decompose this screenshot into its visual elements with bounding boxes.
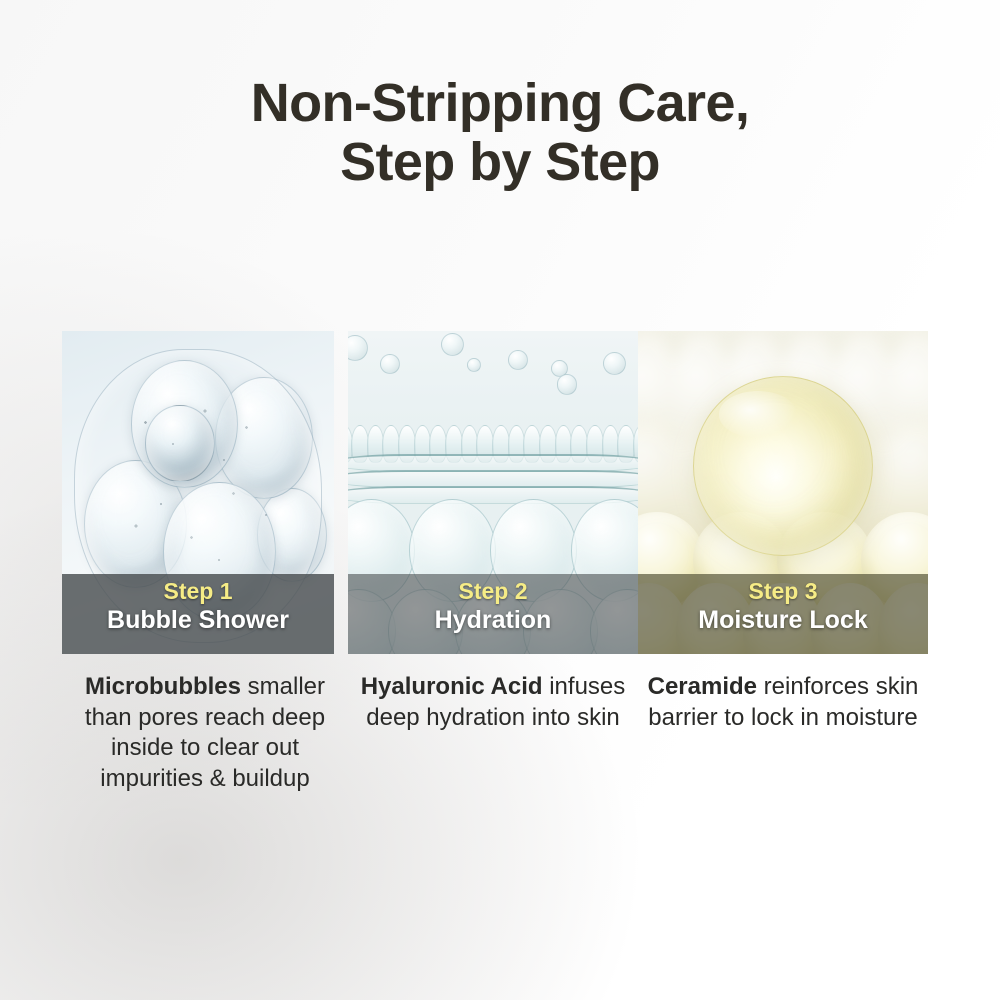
step-3-number: Step 3	[638, 580, 928, 604]
step-card-3[interactable]: Step 3 Moisture Lock	[638, 331, 928, 654]
panel-gap	[334, 331, 348, 654]
step-1-caption-keyword: Microbubbles	[85, 673, 241, 700]
step-2-number: Step 2	[348, 580, 638, 604]
bubble-icon	[441, 333, 464, 356]
bubble-icon	[380, 354, 400, 374]
step-3-caption-keyword: Ceramide	[648, 673, 757, 700]
step-3-name: Moisture Lock	[638, 607, 928, 633]
step-card-1[interactable]: Step 1 Bubble Shower	[62, 331, 334, 654]
bubble-icon	[557, 374, 577, 394]
page-title: Non-Stripping Care, Step by Step	[0, 74, 1000, 193]
ceramide-oil-sphere-icon	[693, 376, 873, 556]
page-title-line-2: Step by Step	[0, 133, 1000, 192]
product-infographic-page: { "headline": { "line1": "Non-Stripping …	[0, 0, 1000, 1000]
step-2-caption-keyword: Hyaluronic Acid	[361, 673, 543, 700]
bubble-icon	[467, 358, 482, 373]
bubble-icon	[348, 335, 368, 361]
step-1-label-bar: Step 1 Bubble Shower	[62, 574, 334, 654]
step-3-caption: Ceramide reinforces skin barrier to lock…	[638, 672, 928, 795]
step-3-label-bar: Step 3 Moisture Lock	[638, 574, 928, 654]
step-2-name: Hydration	[348, 607, 638, 633]
step-1-name: Bubble Shower	[62, 607, 334, 633]
bubble-icon	[508, 350, 528, 370]
step-2-caption: Hyaluronic Acid infuses deep hydration i…	[348, 672, 638, 795]
step-image-strip: Step 1 Bubble Shower	[62, 331, 928, 654]
rising-bubbles-group	[348, 331, 638, 434]
step-1-number: Step 1	[62, 580, 334, 604]
gel-bubble-dark-icon	[145, 405, 215, 483]
page-title-line-1: Non-Stripping Care,	[0, 74, 1000, 133]
bubble-icon	[603, 352, 626, 375]
step-card-2[interactable]: Step 2 Hydration	[348, 331, 638, 654]
step-1-caption: Microbubbles smaller than pores reach de…	[62, 672, 348, 795]
step-2-label-bar: Step 2 Hydration	[348, 574, 638, 654]
step-captions-row: Microbubbles smaller than pores reach de…	[62, 672, 928, 795]
